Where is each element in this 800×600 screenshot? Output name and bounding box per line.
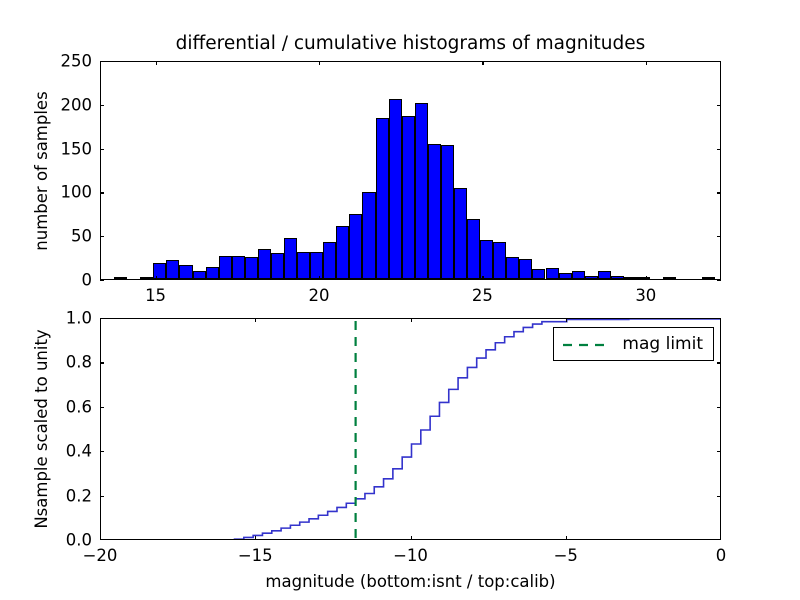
y-tick-bottom xyxy=(100,362,104,363)
y-tick-top-right xyxy=(717,280,721,281)
histogram-bar xyxy=(467,219,480,279)
histogram-bar xyxy=(219,256,232,279)
histogram-bar xyxy=(166,260,179,279)
x-ticklabel-bottom: −15 xyxy=(238,546,273,565)
histogram-bar xyxy=(585,276,598,279)
x-tick-top-upper xyxy=(482,61,483,65)
histogram-bar xyxy=(179,265,192,279)
y-tick-top xyxy=(100,61,104,62)
y-ticklabel-top: 0 xyxy=(42,271,92,290)
histogram-bar xyxy=(493,242,506,279)
y-tick-bottom xyxy=(100,496,104,497)
y-tick-top xyxy=(100,192,104,193)
y-ticklabel-bottom: 1.0 xyxy=(42,309,92,328)
y-axis-label-top: number of samples xyxy=(32,91,51,250)
y-tick-top xyxy=(100,105,104,106)
x-tick-bottom xyxy=(566,536,567,540)
histogram-bar xyxy=(572,271,585,279)
histogram-bar xyxy=(193,271,206,279)
x-ticklabel-top: 15 xyxy=(145,286,166,305)
histogram-bar xyxy=(611,276,624,280)
y-tick-bottom xyxy=(100,407,104,408)
dashed-line-icon xyxy=(562,338,606,352)
y-tick-top xyxy=(100,236,104,237)
y-tick-bottom xyxy=(100,539,104,540)
histogram-bar xyxy=(702,277,715,279)
histogram-bar xyxy=(559,273,572,279)
histogram-bar xyxy=(297,252,310,279)
x-tick-bottom-upper xyxy=(566,318,567,322)
x-tick-top xyxy=(646,276,647,280)
histogram-bar xyxy=(389,99,402,279)
histogram-bar xyxy=(258,249,271,279)
x-tick-top-upper xyxy=(156,61,157,65)
y-tick-bottom-right xyxy=(717,362,721,363)
histogram-bar xyxy=(245,257,258,279)
histogram-bar xyxy=(206,267,219,279)
histogram-bar xyxy=(362,192,375,279)
page-title: differential / cumulative histograms of … xyxy=(100,33,721,55)
x-ticklabel-bottom: 0 xyxy=(716,546,727,565)
y-tick-bottom-right xyxy=(717,407,721,408)
legend[interactable]: mag limit xyxy=(553,327,714,361)
y-tick-top xyxy=(100,280,104,281)
figure-canvas: differential / cumulative histograms of … xyxy=(0,0,800,600)
y-tick-top-right xyxy=(717,236,721,237)
differential-histogram-axes xyxy=(100,61,721,280)
x-tick-bottom xyxy=(255,536,256,540)
x-tick-top xyxy=(156,276,157,280)
histogram-bars-layer xyxy=(101,62,720,279)
y-tick-bottom-right xyxy=(717,496,721,497)
x-tick-bottom xyxy=(411,536,412,540)
histogram-bar xyxy=(284,238,297,279)
y-tick-top-right xyxy=(717,105,721,106)
histogram-bar xyxy=(637,277,650,279)
y-tick-top-right xyxy=(717,61,721,62)
histogram-bar xyxy=(663,277,676,279)
y-tick-top xyxy=(100,149,104,150)
x-tick-top xyxy=(482,276,483,280)
y-ticklabel-top: 250 xyxy=(42,52,92,71)
histogram-bar xyxy=(519,259,532,279)
y-tick-bottom xyxy=(100,451,104,452)
histogram-bar xyxy=(546,268,559,279)
histogram-bar xyxy=(598,271,611,279)
x-ticklabel-bottom: −5 xyxy=(554,546,578,565)
histogram-bar xyxy=(624,277,637,279)
histogram-bar xyxy=(232,256,245,279)
y-axis-label-bottom: Nsample scaled to unity xyxy=(32,329,51,528)
x-ticklabel-bottom: −10 xyxy=(393,546,428,565)
histogram-bar xyxy=(271,253,284,279)
x-ticklabel-top: 20 xyxy=(308,286,329,305)
x-axis-label-bottom: magnitude (bottom:isnt / top:calib) xyxy=(265,572,555,591)
histogram-bar xyxy=(336,226,349,279)
histogram-bar xyxy=(506,257,519,279)
histogram-bar xyxy=(349,214,362,279)
y-tick-top-right xyxy=(717,149,721,150)
histogram-bar xyxy=(441,145,454,279)
cumulative-histogram-axes: mag limit xyxy=(100,318,721,540)
x-tick-top xyxy=(319,276,320,280)
y-tick-top-right xyxy=(717,192,721,193)
histogram-bar xyxy=(532,269,545,280)
histogram-bar xyxy=(323,242,336,279)
y-tick-bottom-right xyxy=(717,318,721,319)
histogram-bar xyxy=(480,240,493,279)
histogram-bar xyxy=(140,277,153,279)
histogram-bar xyxy=(415,103,428,279)
y-tick-bottom-right xyxy=(717,539,721,540)
x-tick-top-upper xyxy=(646,61,647,65)
x-tick-bottom-upper xyxy=(255,318,256,322)
y-tick-bottom xyxy=(100,318,104,319)
legend-label-mag-limit: mag limit xyxy=(622,334,703,354)
mag-limit-legend-swatch xyxy=(562,337,606,351)
x-tick-bottom-upper xyxy=(411,318,412,322)
histogram-bar xyxy=(428,144,441,279)
y-tick-bottom-right xyxy=(717,451,721,452)
y-ticklabel-bottom: 0.0 xyxy=(42,531,92,550)
histogram-bar xyxy=(454,188,467,279)
histogram-bar xyxy=(310,252,323,279)
histogram-bar xyxy=(402,116,415,279)
x-ticklabel-top: 30 xyxy=(635,286,656,305)
x-ticklabel-top: 25 xyxy=(472,286,493,305)
x-tick-top-upper xyxy=(319,61,320,65)
histogram-bar xyxy=(114,277,127,279)
histogram-bar xyxy=(376,118,389,279)
